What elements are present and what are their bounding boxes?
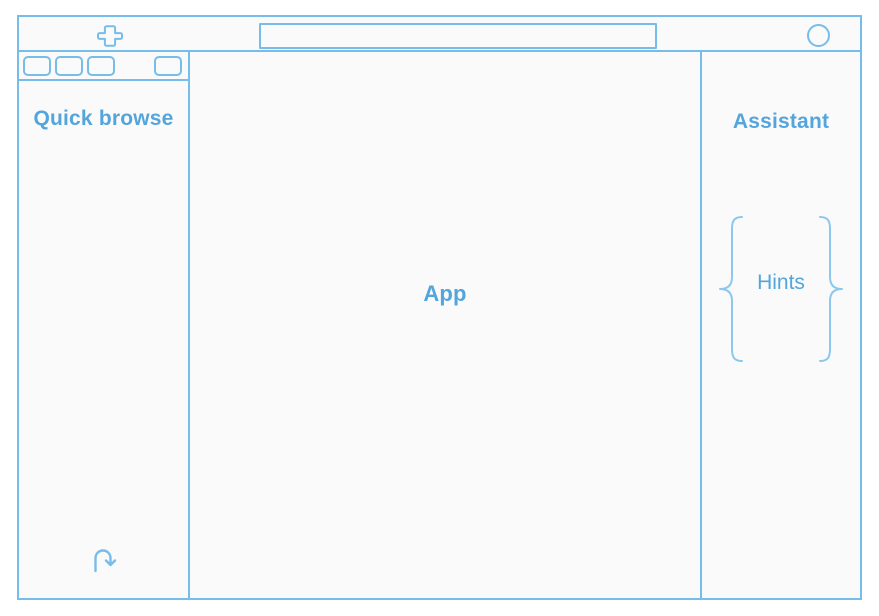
top-bar [17, 15, 862, 52]
sidebar-content-area [19, 132, 188, 542]
sidebar-tool-4[interactable] [154, 56, 182, 76]
main-body: Quick browse App Assistant [17, 52, 862, 600]
search-input[interactable] [259, 23, 657, 49]
circle-avatar-icon[interactable] [807, 24, 830, 47]
sidebar-footer [19, 542, 188, 598]
sidebar-tool-2[interactable] [55, 56, 83, 76]
u-turn-arrow-glyph [87, 544, 119, 576]
assistant-panel: Assistant Hints [702, 52, 860, 598]
sidebar-toolbar [19, 52, 188, 81]
hints-block: Hints [710, 215, 852, 363]
app-label: App [423, 281, 466, 307]
sidebar-panel: Quick browse [19, 52, 190, 598]
app-content-area: App [190, 52, 702, 598]
undo-u-turn-arrow-icon[interactable] [87, 544, 119, 576]
sidebar-tool-3[interactable] [87, 56, 115, 76]
brace-right-glyph [816, 215, 846, 363]
wireframe-canvas: Quick browse App Assistant [17, 15, 862, 600]
assistant-title: Assistant [702, 110, 860, 134]
curly-brace-right-icon [816, 215, 846, 363]
sidebar-tool-1[interactable] [23, 56, 51, 76]
plus-icon [95, 24, 125, 48]
sidebar-title: Quick browse [19, 106, 188, 132]
add-button[interactable] [95, 24, 125, 48]
